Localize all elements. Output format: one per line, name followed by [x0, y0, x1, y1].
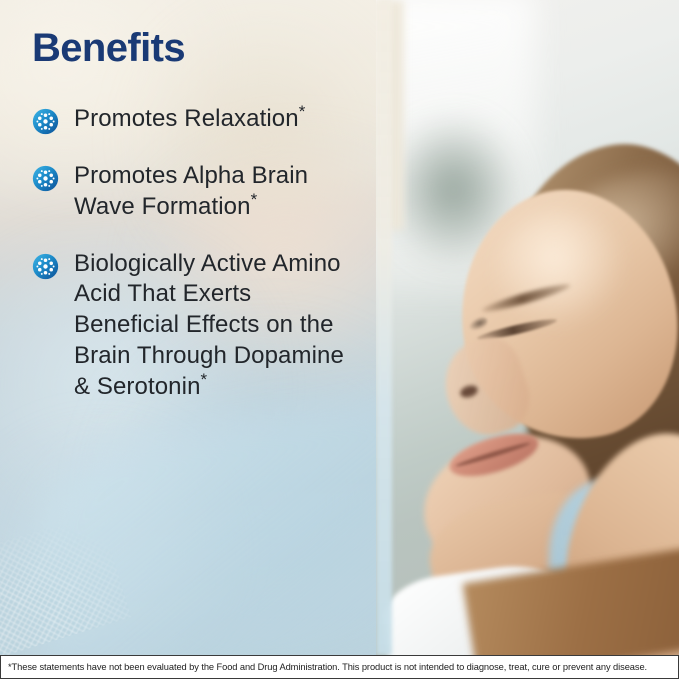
page-title: Benefits	[32, 28, 360, 68]
benefit-text: Promotes Alpha Brain Wave Formation*	[74, 161, 360, 223]
photo-face-highlight	[496, 210, 626, 330]
benefit-label: Promotes Alpha Brain Wave Formation	[74, 162, 308, 220]
photo-left-edge-blend	[376, 0, 392, 655]
asterisk-marker: *	[299, 102, 306, 121]
benefit-list-item: Promotes Alpha Brain Wave Formation*	[32, 161, 360, 223]
molecule-icon	[32, 165, 59, 192]
benefits-panel: Benefits	[0, 0, 376, 655]
benefit-label: Promotes Relaxation	[74, 105, 299, 132]
benefit-label: Biologically Active Amino Acid That Exer…	[74, 250, 344, 400]
benefits-list: Promotes Relaxation*	[32, 104, 360, 403]
asterisk-marker: *	[201, 370, 208, 389]
disclaimer-text: *These statements have not been evaluate…	[1, 662, 647, 672]
benefit-list-item: Biologically Active Amino Acid That Exer…	[32, 249, 360, 403]
benefit-text: Biologically Active Amino Acid That Exer…	[74, 249, 360, 403]
benefit-text: Promotes Relaxation*	[74, 104, 305, 135]
benefits-content: Benefits	[0, 0, 376, 655]
asterisk-marker: *	[251, 190, 258, 209]
molecule-icon	[32, 108, 59, 135]
product-benefits-infographic: Benefits	[0, 0, 679, 679]
disclaimer-bar: *These statements have not been evaluate…	[0, 655, 679, 679]
woman-relaxing-photo	[376, 0, 679, 655]
molecule-icon	[32, 253, 59, 280]
benefit-list-item: Promotes Relaxation*	[32, 104, 360, 135]
